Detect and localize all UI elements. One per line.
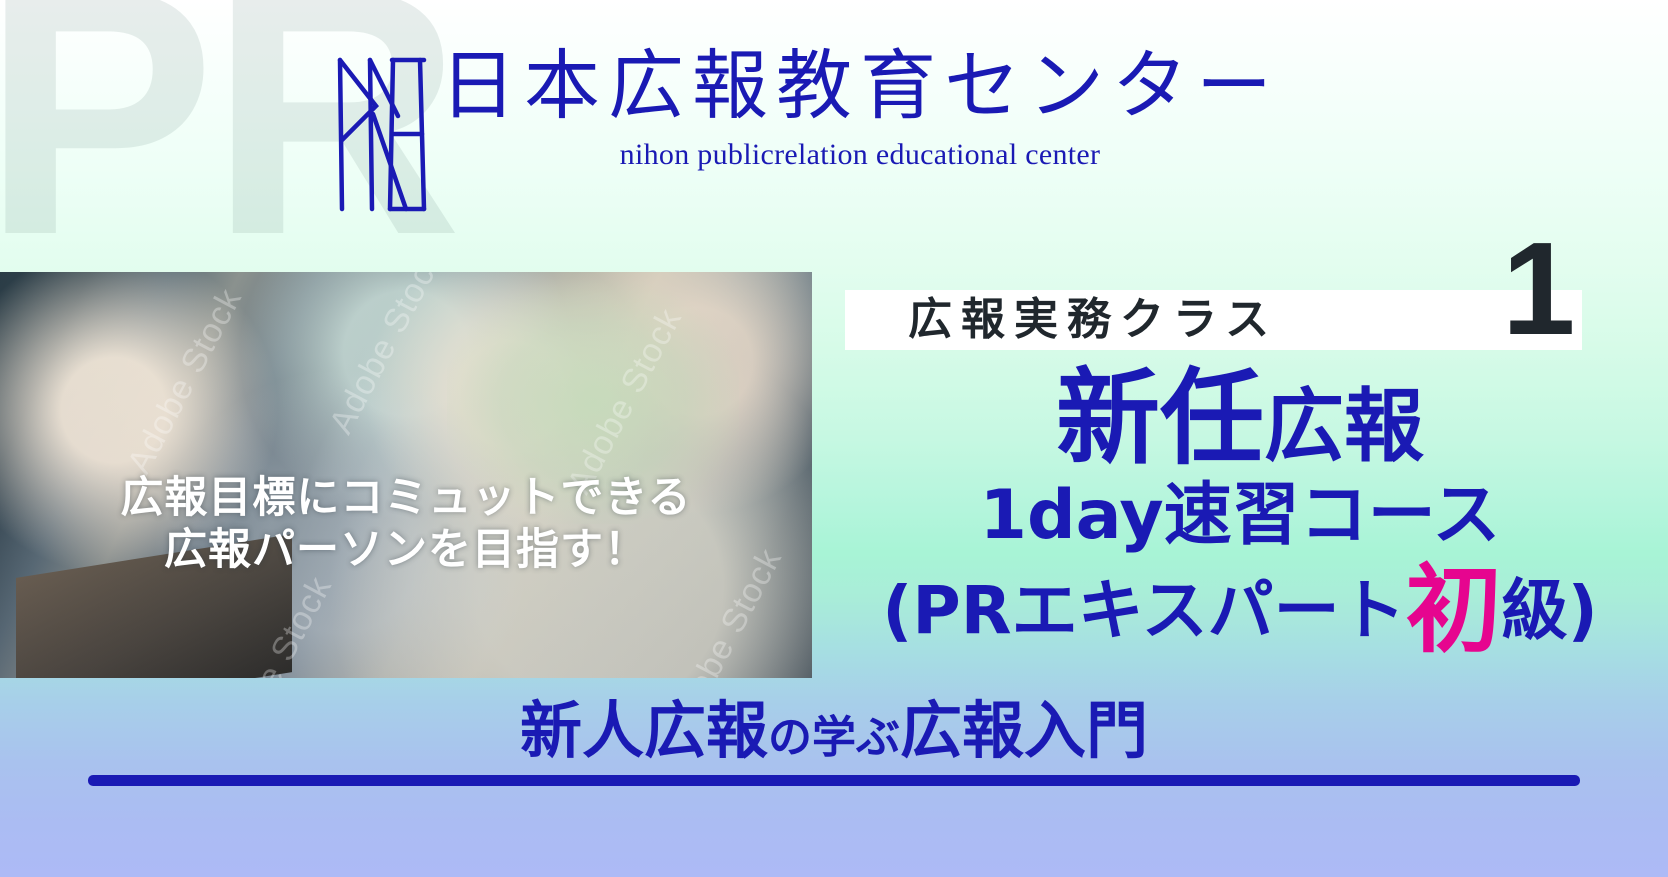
class-number: 1 [1502,230,1575,348]
brand-header: 日本広報教育センター nihon publicrelation educatio… [332,48,1280,214]
class-banner-group: 広報実務クラス 1 [812,230,1668,350]
brand-logo-mark-icon [332,54,428,214]
bottom-tagline: 新人広報の学ぶ広報入門 [0,700,1668,762]
course-promo-poster: PR 日本広報教育センター nihon publ [0,0,1668,877]
course-subline: 1day速習コース [812,482,1668,550]
brand-name-jp: 日本広報教育センター [440,48,1280,124]
credential-level-rest: 級 [1502,572,1568,649]
credential-open-paren: ( [882,572,912,649]
hero-photo: Adobe Stock Adobe Stock Adobe Stock Adob… [0,272,812,678]
brand-wordmark: 日本広報教育センター nihon publicrelation educatio… [440,48,1280,171]
credential-line: (PRエキスパート初級) [812,572,1668,649]
bottom-divider-rule [88,775,1580,786]
class-banner-label: 広報実務クラス [908,294,1278,346]
photo-caption-line-2: 広報パーソンを目指す！ [0,524,812,576]
credential-close-paren: ) [1568,572,1598,649]
credential-prefix: PRエキスパート [912,572,1405,649]
photo-caption: 広報目標にコミュットできる 広報パーソンを目指す！ [0,472,812,577]
brand-name-en: nihon publicrelation educational center [620,138,1101,171]
tagline-middle: の学ぶ [768,712,900,763]
course-info-column: 広報実務クラス 1 新任広報 1day速習コース (PRエキスパート初級) [812,230,1668,649]
tagline-tail: 広報入門 [900,694,1148,767]
headline-part-medium: 広報 [1264,380,1424,473]
course-headline: 新任広報 [812,366,1668,470]
tagline-lead: 新人広報 [520,694,768,767]
credential-level-highlight: 初 [1406,554,1502,666]
photo-caption-line-1: 広報目標にコミュットできる [120,473,691,523]
headline-part-large: 新任 [1056,357,1264,479]
